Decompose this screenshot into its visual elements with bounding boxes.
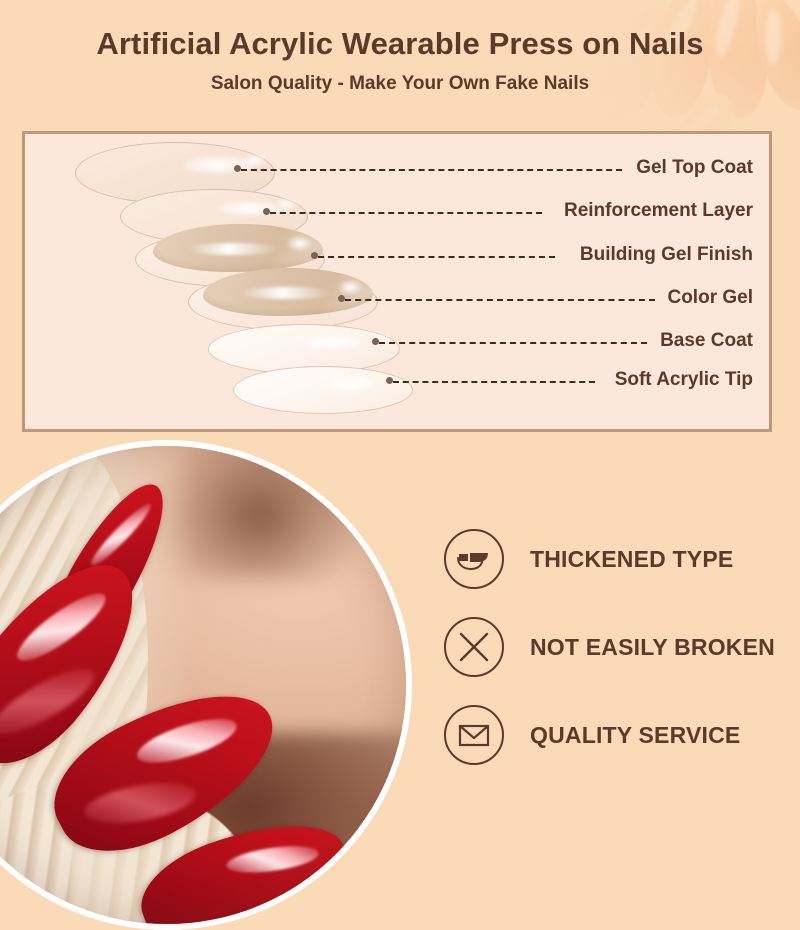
layer-gel-building-gel-finish — [153, 224, 323, 272]
layer-label: Base Coat — [660, 330, 753, 352]
layer-label: Building Gel Finish — [580, 244, 753, 266]
layer-label: Color Gel — [667, 287, 753, 309]
page-subtitle: Salon Quality - Make Your Own Fake Nails — [0, 62, 800, 95]
layer-label: Soft Acrylic Tip — [615, 369, 753, 391]
cross-circle-icon — [444, 617, 504, 677]
envelope-icon — [444, 705, 504, 765]
leader-line — [379, 342, 647, 344]
feature-item-quality-service: QUALITY SERVICE — [444, 691, 775, 779]
leader-line — [270, 212, 542, 214]
leader-dot — [311, 252, 318, 259]
leader-dot — [234, 165, 241, 172]
product-photo — [0, 446, 406, 924]
leader-line — [241, 169, 622, 171]
product-photo-circle — [0, 440, 412, 930]
feature-list: THICKENED TYPE NOT EASILY BROKEN QUALITY… — [444, 515, 775, 779]
leader-line — [318, 256, 555, 258]
leader-dot — [263, 208, 270, 215]
feature-item-not-easily-broken: NOT EASILY BROKEN — [444, 603, 775, 691]
layer-label: Gel Top Coat — [636, 157, 753, 179]
header: Artificial Acrylic Wearable Press on Nai… — [0, 0, 800, 95]
feature-label: THICKENED TYPE — [530, 546, 733, 573]
layer-diagram-panel: Gel Top Coat Reinforcement Layer Buildin… — [22, 131, 772, 432]
leader-line — [393, 381, 595, 383]
feature-item-thickened-type: THICKENED TYPE — [444, 515, 775, 603]
leader-dot — [386, 377, 393, 384]
layer-gel-color-gel — [203, 268, 373, 316]
layer-label: Reinforcement Layer — [564, 200, 753, 222]
page-title: Artificial Acrylic Wearable Press on Nai… — [0, 0, 800, 62]
feature-label: NOT EASILY BROKEN — [530, 634, 775, 661]
leader-line — [345, 299, 655, 301]
leader-dot — [372, 338, 379, 345]
thickened-nail-icon — [444, 529, 504, 589]
leader-dot — [338, 295, 345, 302]
layer-blob-soft-acrylic-tip — [233, 366, 413, 414]
feature-label: QUALITY SERVICE — [530, 722, 740, 749]
